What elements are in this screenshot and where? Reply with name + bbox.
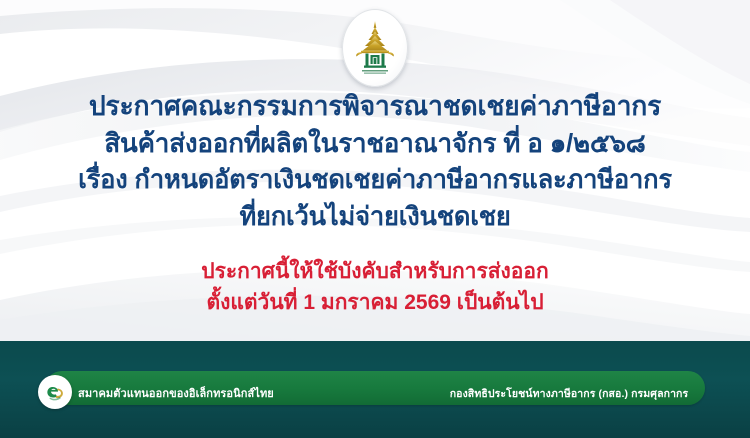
footer-department-name: กองสิทธิประโยชน์ทางภาษีอากร (กสอ.) กรมศุ… bbox=[440, 385, 698, 402]
thai-customs-emblem bbox=[342, 9, 408, 87]
footer-association-name: สมาคมตัวแทนออกของอิเล็กทรอนิกส์ไทย bbox=[78, 384, 274, 402]
subline-line-1: ประกาศนี้ให้ใช้บังคับสำหรับการส่งออก bbox=[0, 256, 750, 287]
effective-date-notice: ประกาศนี้ให้ใช้บังคับสำหรับการส่งออก ตั้… bbox=[0, 256, 750, 318]
e-customs-association-logo bbox=[38, 375, 72, 409]
headline-line-3: เรื่อง กำหนดอัตราเงินชดเชยค่าภาษีอากรและ… bbox=[0, 162, 750, 199]
page-title: ประกาศคณะกรรมการพิจารณาชดเชยค่าภาษีอากร … bbox=[0, 88, 750, 236]
headline-line-4: ที่ยกเว้นไม่จ่ายเงินชดเชย bbox=[0, 199, 750, 236]
headline-line-1: ประกาศคณะกรรมการพิจารณาชดเชยค่าภาษีอากร bbox=[0, 88, 750, 125]
headline-line-2: สินค้าส่งออกที่ผลิตในราชอาณาจักร ที่ อ ๑… bbox=[0, 125, 750, 162]
subline-line-2: ตั้งแต่วันที่ 1 มกราคม 2569 เป็นต้นไป bbox=[0, 287, 750, 318]
announcement-banner: ประกาศคณะกรรมการพิจารณาชดเชยค่าภาษีอากร … bbox=[0, 0, 750, 438]
